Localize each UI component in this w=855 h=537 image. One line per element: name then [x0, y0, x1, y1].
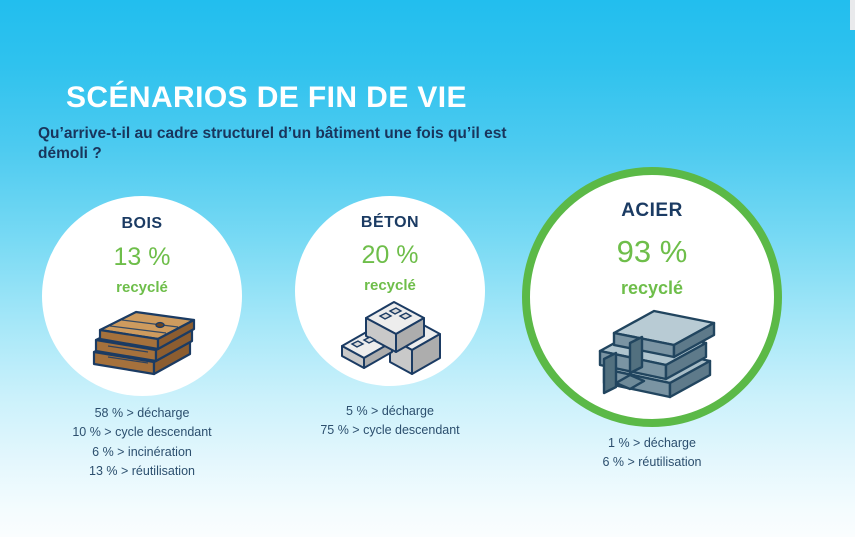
material-card-beton[interactable]: BÉTON 20 % recyclé: [295, 196, 485, 386]
material-recycled-label-acier: recyclé: [621, 279, 683, 297]
material-percent-acier: 93 %: [617, 236, 688, 267]
steel-beams-icon-wrap: [530, 301, 774, 411]
header-block: SCÉNARIOS DE FIN DE VIE Qu’arrive-t-il a…: [66, 82, 626, 165]
material-name-beton: BÉTON: [361, 215, 419, 231]
material-circle-acier: ACIER 93 % recyclé: [522, 167, 782, 427]
breakdown-list-acier: 1 % > décharge 6 % > réutilisation: [552, 434, 752, 473]
material-circle-bois: BOIS 13 % recyclé: [42, 196, 242, 396]
breakdown-item: 6 % > réutilisation: [552, 453, 752, 472]
material-recycled-label-bois: recyclé: [116, 280, 168, 295]
page-title: SCÉNARIOS DE FIN DE VIE: [66, 82, 626, 114]
wood-planks-icon: [86, 308, 198, 380]
material-name-acier: ACIER: [621, 201, 683, 220]
breakdown-item: 6 % > incinération: [20, 443, 264, 462]
material-card-bois[interactable]: BOIS 13 % recyclé: [42, 196, 242, 396]
breakdown-list-bois: 58 % > décharge 10 % > cycle descendant …: [20, 404, 264, 482]
breakdown-item: 1 % > décharge: [552, 434, 752, 453]
concrete-blocks-icon-wrap: [295, 296, 485, 376]
material-percent-bois: 13 %: [114, 245, 171, 270]
page-subtitle: Qu’arrive-t-il au cadre structurel d’un …: [38, 124, 508, 166]
material-circle-beton: BÉTON 20 % recyclé: [295, 196, 485, 386]
material-percent-beton: 20 %: [362, 243, 419, 268]
breakdown-list-beton: 5 % > décharge 75 % > cycle descendant: [273, 402, 507, 441]
wood-planks-icon-wrap: [42, 300, 242, 380]
material-name-bois: BOIS: [121, 216, 162, 232]
concrete-blocks-icon: [338, 298, 442, 376]
page-edge-strip: [850, 0, 855, 30]
breakdown-item: 10 % > cycle descendant: [20, 423, 264, 442]
breakdown-item: 5 % > décharge: [273, 402, 507, 421]
breakdown-item: 58 % > décharge: [20, 404, 264, 423]
breakdown-item: 13 % > réutilisation: [20, 462, 264, 481]
breakdown-item: 75 % > cycle descendant: [273, 421, 507, 440]
steel-beams-icon: [586, 303, 718, 411]
infographic-canvas: SCÉNARIOS DE FIN DE VIE Qu’arrive-t-il a…: [0, 0, 855, 537]
material-card-acier[interactable]: ACIER 93 % recyclé: [522, 167, 782, 427]
material-recycled-label-beton: recyclé: [364, 278, 416, 293]
